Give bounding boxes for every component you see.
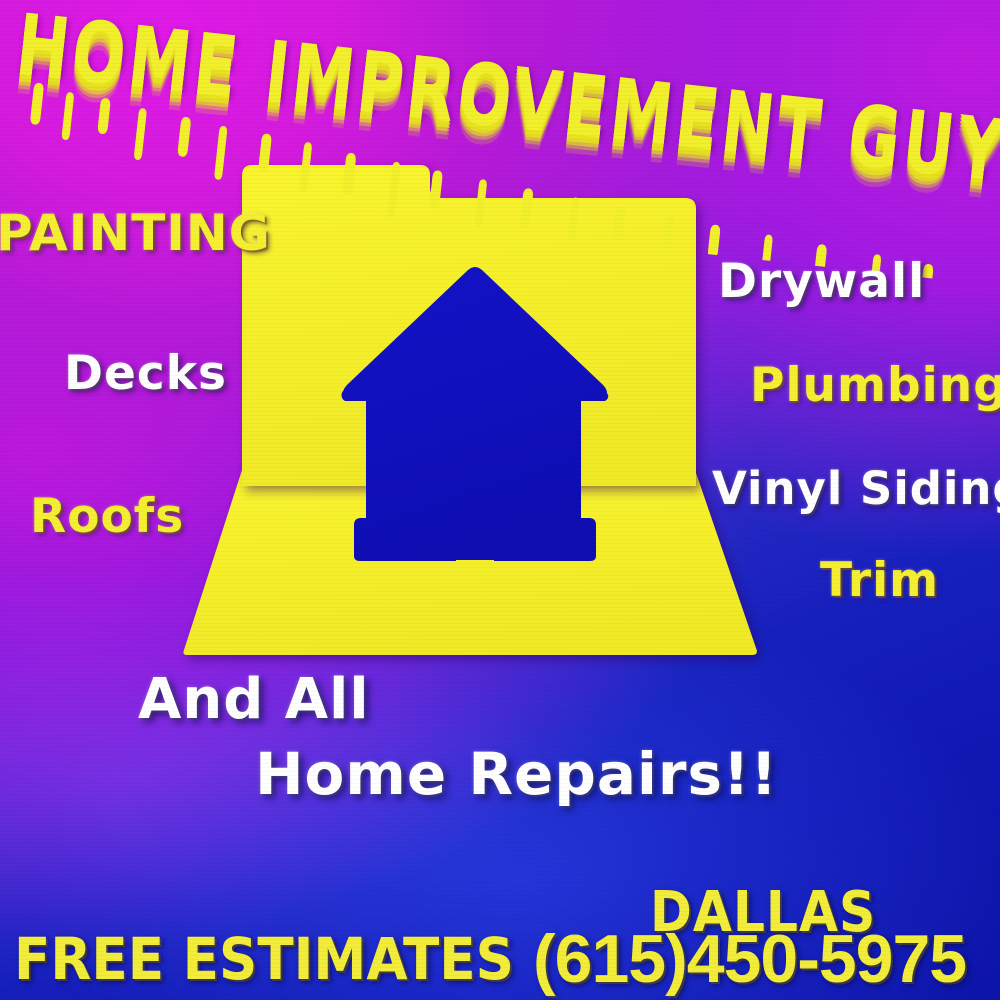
- service-label-drywall: Drywall: [718, 258, 925, 305]
- service-label-trim: Trim: [820, 557, 939, 604]
- service-label-painting: PAINTING: [0, 208, 271, 258]
- poster-canvas: HOME IMPROVEMENT GUY: [0, 0, 1000, 1000]
- free-estimates-label: FREE ESTIMATES: [14, 930, 514, 988]
- tagline-line-2: Home Repairs!!: [255, 745, 778, 803]
- service-label-roofs: Roofs: [30, 493, 184, 540]
- service-label-plumbing: Plumbing: [750, 362, 1000, 409]
- tagline-line-1: And All: [138, 672, 370, 728]
- service-label-decks: Decks: [64, 350, 227, 397]
- phone-number[interactable]: (615)450-5975: [533, 925, 966, 993]
- service-label-vinyl-siding: Vinyl Siding: [712, 466, 1000, 511]
